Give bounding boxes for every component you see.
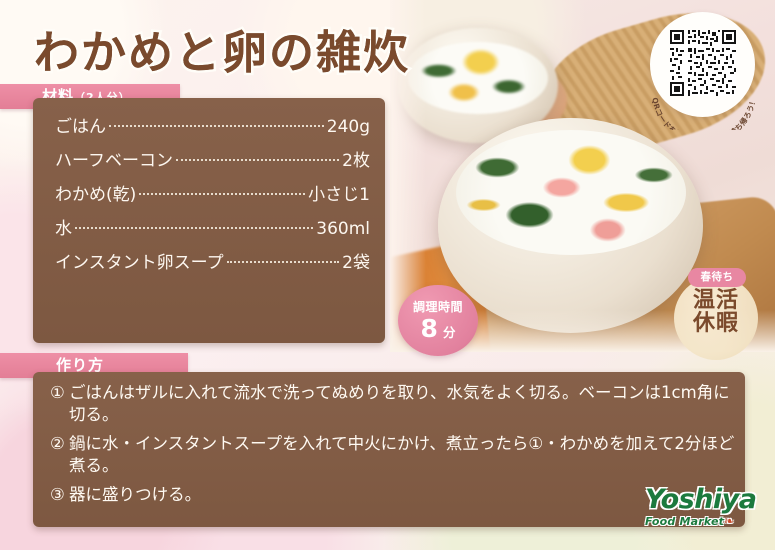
qr-badge[interactable]: QRコードを撮影してレシピを持ち帰ろう！ [650,12,762,116]
brand-tagline: Food Market❧ [645,514,763,528]
qr-caption-text: QRコードを撮影してレシピを持ち帰ろう！ [650,97,757,130]
ingredient-amount: 2袋 [342,248,370,273]
steps-list: ① ごはんはザルに入れて流水で洗ってぬめりを取り、水気をよく切る。ベーコンは1c… [50,382,740,514]
seal-ribbon: 春待ち [688,268,746,287]
cooking-time-unit: 分 [443,322,456,341]
leader-dots [109,125,324,127]
qr-caption: QRコードを撮影してレシピを持ち帰ろう！ [648,72,760,130]
campaign-seal: 春待ち 温活 休暇 [668,268,764,352]
ingredient-name: インスタント卵スープ [55,248,224,273]
leader-dots [176,159,339,161]
ingredient-row: わかめ(乾) 小さじ1 [55,180,370,214]
ingredient-amount: 小さじ1 [308,180,370,205]
cooking-time-badge: 調理時間 8 分 [398,285,478,356]
step-text: 器に盛りつける。 [69,484,740,506]
step-number: ③ [50,484,69,506]
ingredient-amount: 240g [327,117,370,137]
ingredient-row: ごはん 240g [55,112,370,146]
leader-dots [75,227,313,229]
page-title: わかめと卵の雑炊 [34,16,410,81]
ingredient-row: ハーフベーコン 2枚 [55,146,370,180]
ingredient-name: ごはん [55,112,106,137]
brand-logo: Yoshiya Food Market❧ [645,486,763,534]
step-text: 鍋に水・インスタントスープを入れて中火にかけ、煮立ったら①・わかめを加えて2分ほ… [69,433,740,477]
leader-dots [139,193,305,195]
ingredient-amount: 2枚 [342,146,370,171]
brand-tagline-text: Food Market [645,515,724,528]
step-item: ① ごはんはザルに入れて流水で洗ってぬめりを取り、水気をよく切る。ベーコンは1c… [50,382,740,426]
seal-line-1: 温活 [674,290,758,313]
step-number: ① [50,382,69,426]
ingredient-row: インスタント卵スープ 2袋 [55,248,370,282]
step-item: ② 鍋に水・インスタントスープを入れて中火にかけ、煮立ったら①・わかめを加えて2… [50,433,740,477]
seal-line-2: 休暇 [674,313,758,336]
cooking-time-label: 調理時間 [398,298,478,315]
step-number: ② [50,433,69,477]
step-text: ごはんはザルに入れて流水で洗ってぬめりを取り、水気をよく切る。ベーコンは1cm角… [69,382,740,426]
ingredient-amount: 360ml [316,219,370,239]
leaf-icon: ❧ [724,514,734,528]
leader-dots [227,261,340,263]
ingredient-name: 水 [55,214,72,239]
cooking-time-value: 8 [421,316,438,341]
cooking-time-value-row: 8 分 [398,316,478,341]
ingredient-row: 水 360ml [55,214,370,248]
front-bowl-food [456,130,686,255]
seal-text: 温活 休暇 [674,290,758,336]
recipe-card: わかめと卵の雑炊 わかめと卵の雑炊 材料（2人分） ごはん 240g ハーフベー… [0,0,775,550]
ingredient-name: わかめ(乾) [55,180,136,205]
ingredients-list: ごはん 240g ハーフベーコン 2枚 わかめ(乾) 小さじ1 水 360ml … [55,112,370,282]
brand-name: Yoshiya [645,486,763,513]
step-item: ③ 器に盛りつける。 [50,484,740,506]
ingredient-name: ハーフベーコン [55,146,173,171]
back-bowl-food [408,42,548,114]
